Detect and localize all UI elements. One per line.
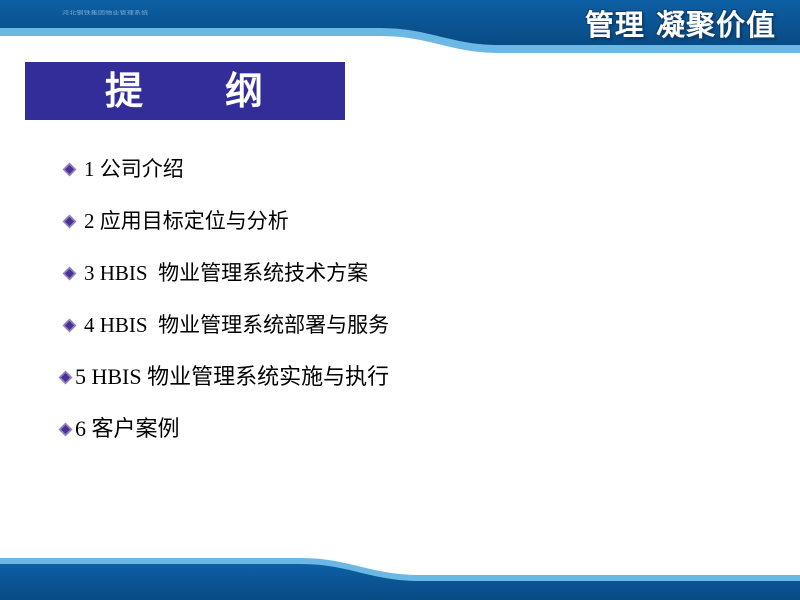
- header-small-text: 河北钢铁集团物业管理系统: [62, 9, 148, 17]
- footer-band-shape: [0, 538, 800, 600]
- list-item[interactable]: 6 客户案例: [58, 403, 722, 455]
- diamond-bullet-icon: [58, 370, 73, 385]
- diamond-bullet-icon: [62, 162, 77, 177]
- list-item[interactable]: 2 应用目标定位与分析: [62, 195, 722, 247]
- list-item-label: 5 HBIS 物业管理系统实施与执行: [75, 366, 389, 388]
- diamond-bullet-icon: [62, 266, 77, 281]
- list-item-label: 1 公司介绍: [84, 159, 184, 180]
- slide: 河北钢铁集团物业管理系统 管理 凝聚价值 提 纲 1 公司介绍 2 应用目标: [0, 0, 800, 600]
- list-item[interactable]: 3 HBIS 物业管理系统技术方案: [62, 247, 722, 299]
- diamond-bullet-icon: [62, 318, 77, 333]
- list-item-label: 2 应用目标定位与分析: [84, 211, 289, 232]
- footer-accent-stripe: [0, 558, 800, 582]
- slide-title-box: 提 纲: [25, 62, 345, 120]
- list-item-label: 4 HBIS 物业管理系统部署与服务: [84, 315, 389, 336]
- header-brand-text: 管理 凝聚价值: [585, 2, 776, 44]
- list-item[interactable]: 1 公司介绍: [62, 143, 722, 195]
- outline-list: 1 公司介绍 2 应用目标定位与分析 3 HBIS 物业管理系统技术方案: [62, 143, 722, 455]
- list-item[interactable]: 4 HBIS 物业管理系统部署与服务: [62, 299, 722, 351]
- list-item[interactable]: 5 HBIS 物业管理系统实施与执行: [58, 351, 722, 403]
- list-item-label: 6 客户案例: [75, 418, 180, 440]
- footer-decoration: [0, 538, 800, 600]
- list-item-label: 3 HBIS 物业管理系统技术方案: [84, 263, 368, 284]
- page-title: 提 纲: [105, 72, 265, 110]
- diamond-bullet-icon: [58, 422, 73, 437]
- footer-main-band: [0, 564, 800, 600]
- diamond-bullet-icon: [62, 214, 77, 229]
